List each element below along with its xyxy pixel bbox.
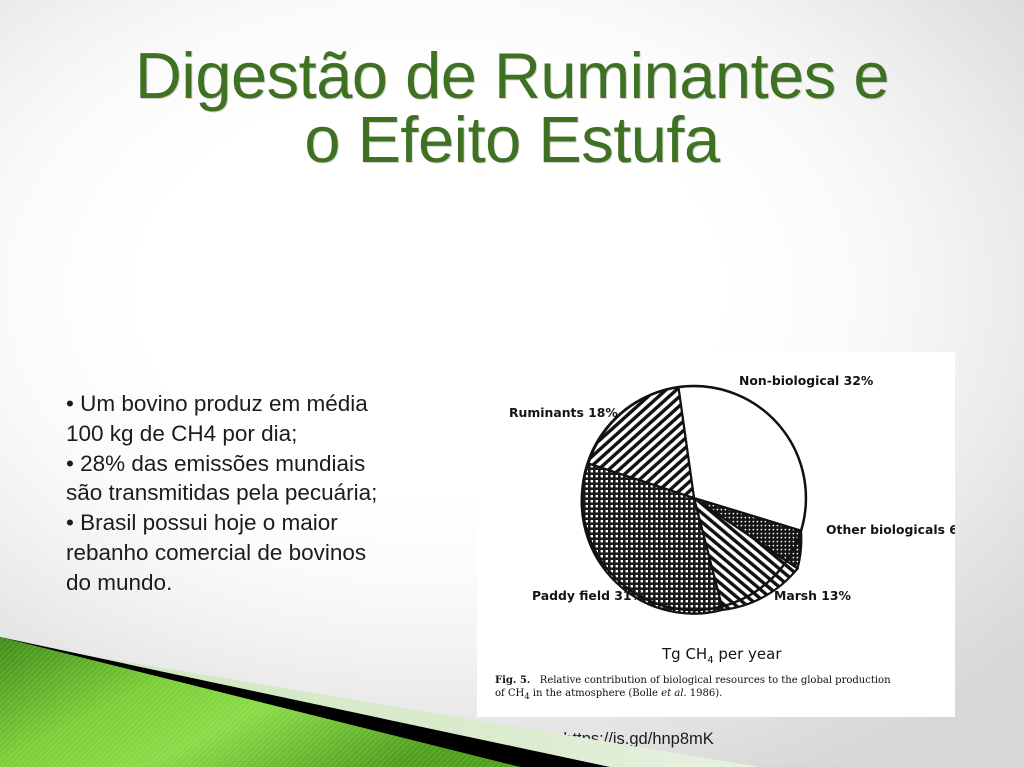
pie-chart: Non-biological 32% Other biologicals 6% … xyxy=(477,352,955,717)
pie-label-other-biologicals: Other biologicals 6% xyxy=(826,522,955,537)
svg-text:Tg CH4 per year: Tg CH4 per year xyxy=(661,645,782,666)
figure-caption-etal: et al. xyxy=(661,688,686,699)
chart-axis-label: Tg CH4 per year xyxy=(661,645,782,666)
body-bullet-list: • Um bovino produz em média 100 kg de CH… xyxy=(66,389,456,598)
axis-label-prefix: Tg CH xyxy=(661,645,707,663)
figure-caption-line2-b: in the atmosphere (Bolle xyxy=(530,688,662,699)
pie-label-paddy-field: Paddy field 31% xyxy=(532,588,644,603)
figure-caption-line2-a: of CH xyxy=(495,688,524,699)
figure-card: Non-biological 32% Other biologicals 6% … xyxy=(477,352,955,717)
pie-label-ruminants: Ruminants 18% xyxy=(509,405,618,420)
axis-label-suffix: per year xyxy=(714,645,783,663)
page-title: Digestão de Ruminantes e o Efeito Estufa xyxy=(40,44,984,173)
slide: Digestão de Ruminantes e o Efeito Estufa… xyxy=(0,0,1024,767)
pie-slices xyxy=(582,386,806,614)
pie-label-marsh: Marsh 13% xyxy=(774,588,852,603)
figure-caption: Fig. 5. Relative contribution of biologi… xyxy=(495,674,943,702)
source-label: Fonte: https://is.gd/hnp8mK xyxy=(512,730,714,749)
figure-caption-number: Fig. 5. xyxy=(495,675,530,686)
figure-caption-line2-c: 1986). xyxy=(687,688,723,699)
pie-label-non-biological: Non-biological 32% xyxy=(739,373,874,388)
banner-green-texture xyxy=(0,637,520,767)
figure-caption-line1: Relative contribution of biological reso… xyxy=(540,675,891,686)
banner-green-wedge xyxy=(0,637,520,767)
